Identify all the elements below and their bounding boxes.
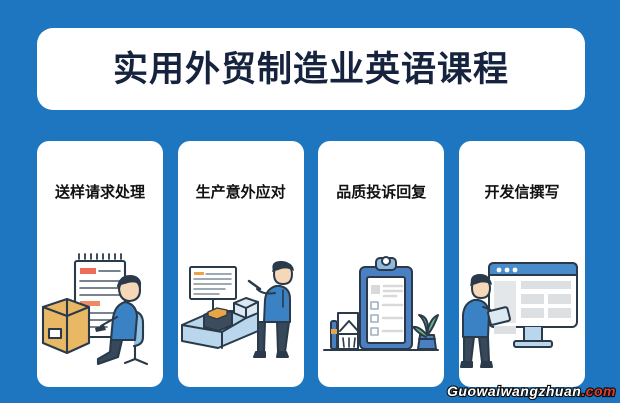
course-card-sample-request[interactable]: 送样请求处理 xyxy=(37,141,163,387)
course-card-title: 生产意外应对 xyxy=(178,185,304,200)
course-card-title: 送样请求处理 xyxy=(37,185,163,200)
outreach-email-illustration xyxy=(459,245,585,375)
course-card-outreach-email[interactable]: 开发信撰写 xyxy=(459,141,585,387)
course-card-production-incident[interactable]: 生产意外应对 xyxy=(178,141,304,387)
title-card: 实用外贸制造业英语课程 xyxy=(37,28,585,110)
page-title: 实用外贸制造业英语课程 xyxy=(113,52,509,87)
sample-request-illustration xyxy=(37,245,163,375)
course-card-row: 送样请求处理 xyxy=(37,141,585,387)
watermark-suffix: .com xyxy=(581,383,616,399)
site-watermark: Guowaiwangzhuan.com xyxy=(447,383,616,399)
course-card-title: 开发信撰写 xyxy=(459,185,585,200)
course-card-quality-complaint[interactable]: 品质投诉回复 xyxy=(318,141,444,387)
watermark-name: Guowaiwangzhuan xyxy=(447,383,581,399)
poster-root: 实用外贸制造业英语课程 送样请求处理 xyxy=(0,0,620,403)
course-card-title: 品质投诉回复 xyxy=(318,185,444,200)
quality-complaint-illustration xyxy=(318,245,444,375)
production-incident-illustration xyxy=(178,245,304,375)
